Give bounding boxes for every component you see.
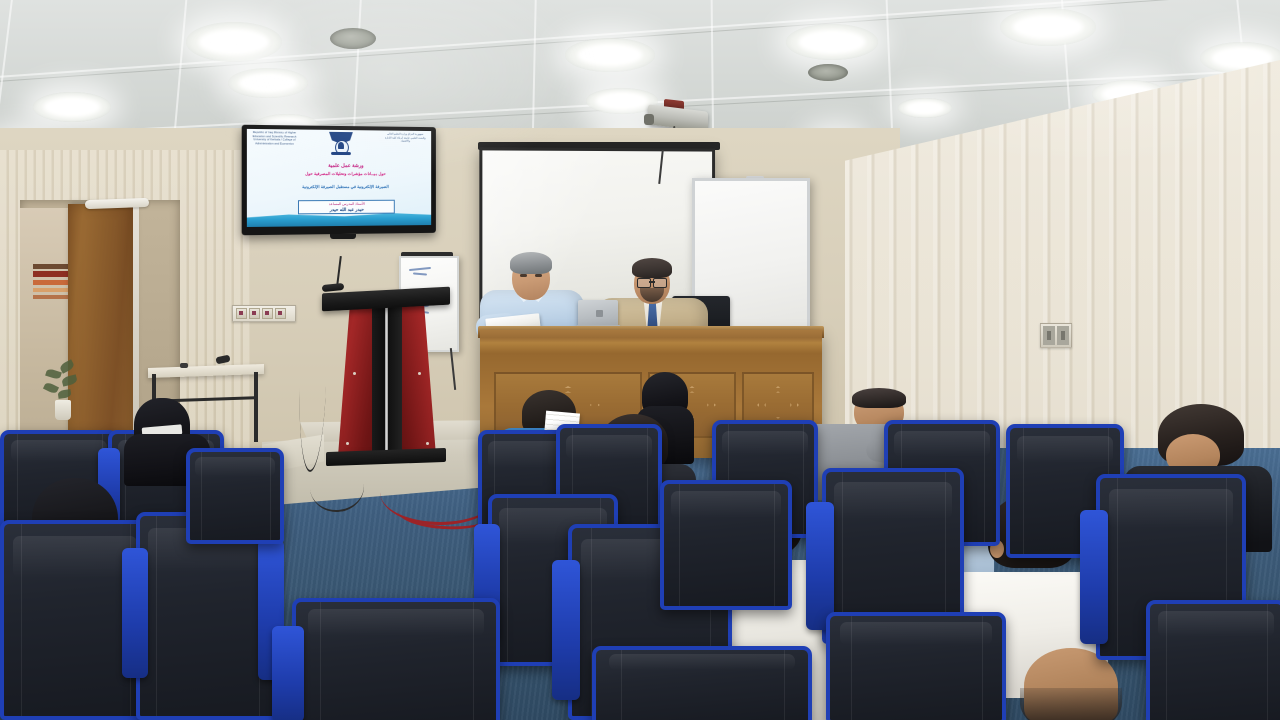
plant-pot — [55, 400, 71, 420]
speaker-podium[interactable] — [330, 290, 442, 462]
slide-subtitle-magenta: حول بـيــانات مؤشرات وتحليلات المصرفية ح… — [253, 171, 431, 177]
attendee-hair — [852, 388, 906, 408]
ceiling-light — [1000, 8, 1096, 46]
projector-icon — [648, 100, 714, 130]
socket-outlet — [1043, 326, 1055, 345]
attendee-hair — [1020, 688, 1122, 720]
light-switch[interactable] — [275, 308, 286, 319]
laptop-logo — [596, 310, 603, 317]
ceiling-vent — [330, 28, 376, 49]
seat-armrest — [272, 626, 304, 720]
ceiling-light — [898, 98, 952, 118]
seat-armrest — [122, 548, 148, 678]
slide-header-arabic: جمهورية العراق وزارة التعليم العالي والب… — [383, 132, 427, 143]
slide-title: ورشة عمل علمية — [253, 163, 431, 170]
conference-hall-photo: Republic of Iraq Ministry of Higher Educ… — [0, 0, 1280, 720]
presenter-name: حيدر عبد الله حيدر — [299, 206, 394, 212]
wall-mounted-display[interactable]: Republic of Iraq Ministry of Higher Educ… — [242, 125, 436, 236]
laptop-screen — [578, 300, 618, 326]
side-table-leg — [254, 372, 258, 442]
panelist-left-hair — [510, 252, 552, 274]
seat-armrest — [552, 560, 580, 700]
slide-header-english: Republic of Iraq Ministry of Higher Educ… — [251, 131, 298, 146]
university-emblem-icon — [326, 132, 356, 158]
podium-top — [322, 287, 450, 312]
podium-chrome-rod — [385, 306, 388, 454]
ceiling-light — [186, 22, 282, 62]
slide-header: Republic of Iraq Ministry of Higher Educ… — [247, 131, 431, 162]
wall-socket[interactable] — [1040, 323, 1072, 348]
projector-lens — [644, 114, 654, 125]
audience-seat[interactable] — [826, 612, 1006, 720]
table-object — [180, 363, 188, 368]
panelist-left-eyes — [520, 274, 542, 277]
glasses-icon — [637, 278, 667, 286]
slide-presenter-box: الأستاذ المدرس المساعد حيدر عبد الله حيد… — [298, 200, 395, 215]
slide-subtitle-blue: الصيرفة الإلكترونية في مستقبل الصيرفة ال… — [253, 184, 431, 190]
audience-seat[interactable] — [1146, 600, 1280, 720]
seat-armrest — [806, 502, 834, 630]
light-switch[interactable] — [249, 308, 260, 319]
light-switch[interactable] — [236, 308, 247, 319]
audience-seat[interactable] — [660, 480, 792, 610]
audience-seat[interactable] — [186, 448, 284, 544]
audience-seat[interactable] — [592, 646, 812, 720]
ceiling-vent — [808, 64, 848, 81]
display-screen: Republic of Iraq Ministry of Higher Educ… — [247, 129, 431, 227]
socket-outlet — [1057, 326, 1069, 345]
ceiling-light — [228, 68, 308, 98]
light-switch[interactable] — [262, 308, 273, 319]
display-mount — [330, 234, 356, 239]
ceiling-light — [565, 38, 655, 72]
panelist-right-hair — [632, 258, 672, 278]
seat-armrest — [1080, 510, 1108, 644]
wall-decor-stripes — [33, 264, 71, 306]
audience-seat[interactable] — [292, 598, 500, 720]
ceiling-light — [786, 24, 878, 60]
light-switch-bank[interactable] — [232, 305, 296, 322]
ceiling-light — [33, 92, 111, 122]
